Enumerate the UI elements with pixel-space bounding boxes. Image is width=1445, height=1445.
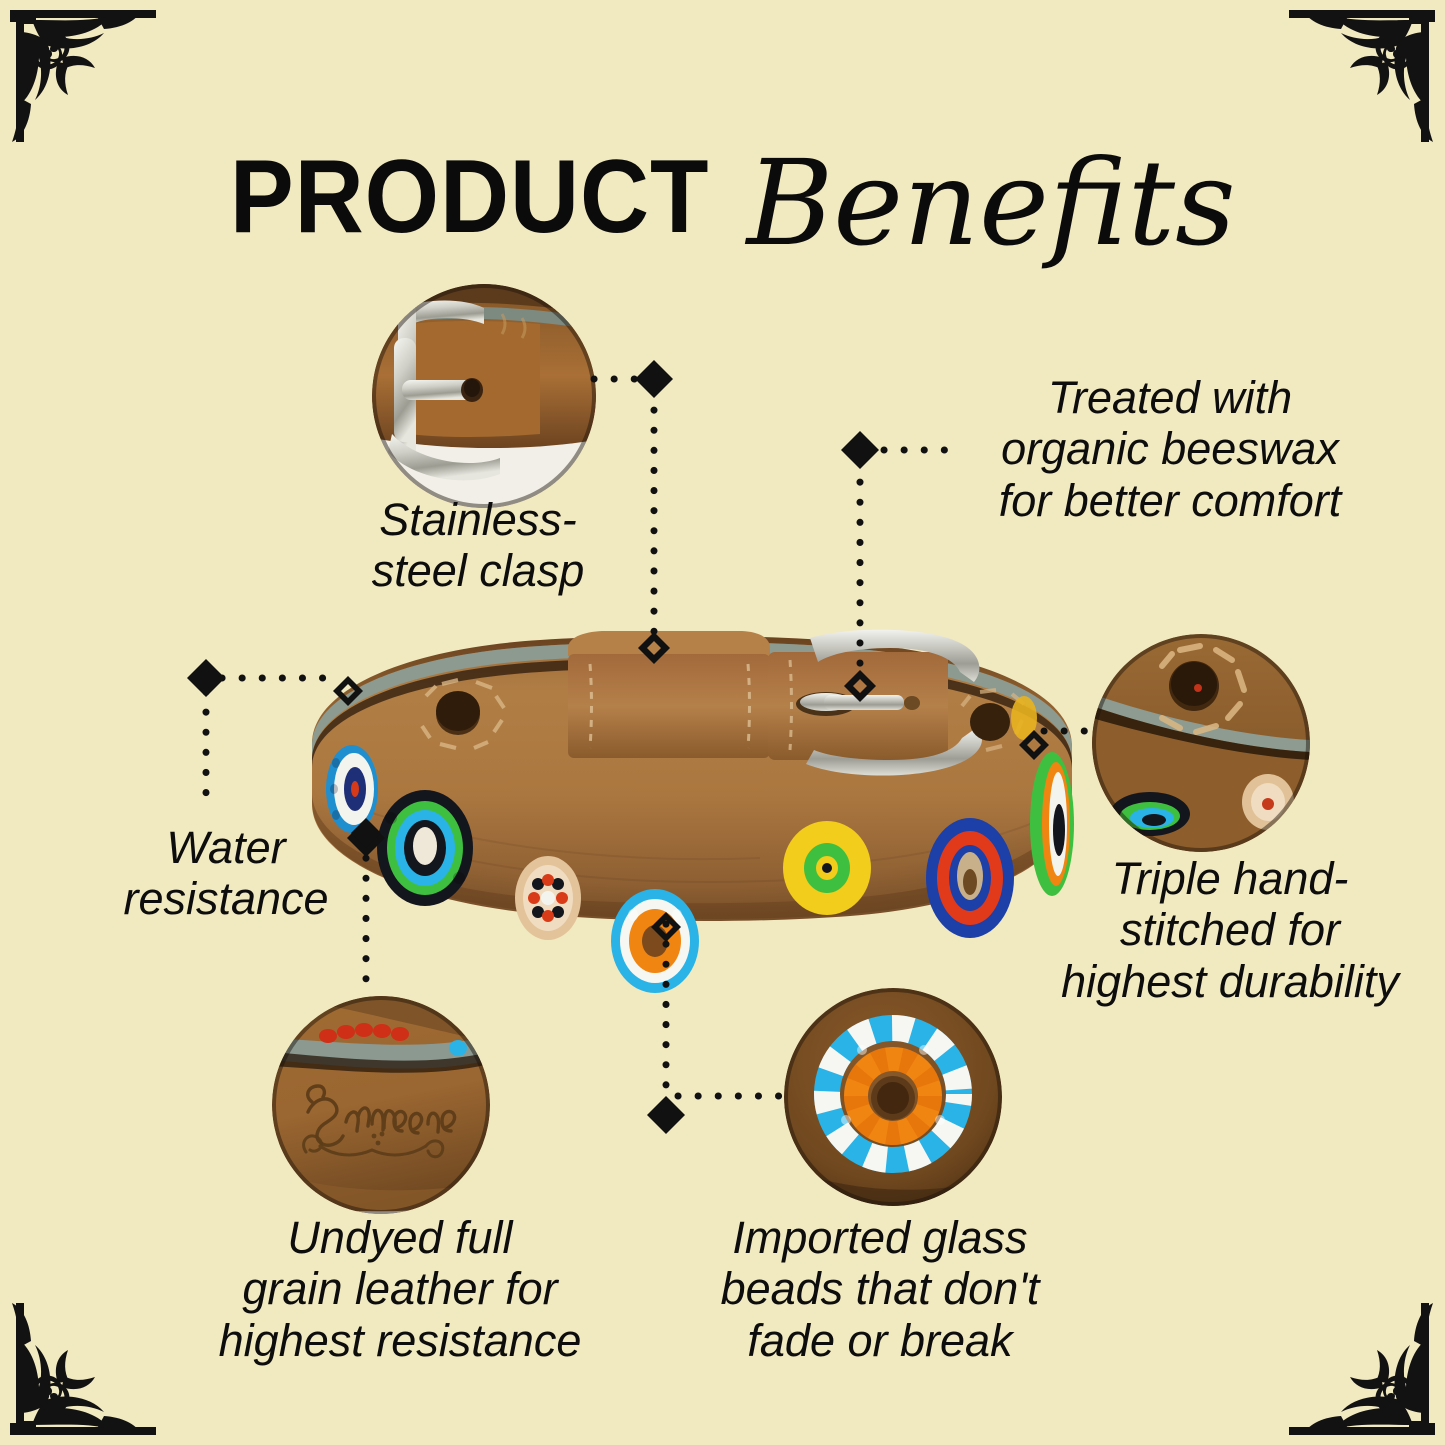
bead-medallion-blue-white — [326, 745, 378, 833]
marker-beads-elbow — [647, 1096, 685, 1134]
bead-medallion-navy-red — [926, 818, 1014, 938]
benefit-label-undyed-full-grain-leather: Undyed full grain leather for highest re… — [210, 1212, 590, 1366]
inset-stitching-closeup — [1092, 634, 1310, 852]
page-title-bold: PRODUCT — [230, 145, 710, 249]
page-title: PRODUCT Benefits — [0, 112, 1445, 282]
buckle-prong — [824, 695, 904, 710]
page-title-script: Benefits — [747, 144, 1236, 262]
benefit-label-triple-hand-stitched: Triple hand- stitched for highest durabi… — [1050, 853, 1410, 1007]
benefit-label-water-resistance: Water resistance — [86, 822, 366, 925]
bead-medallion-pearl-red — [515, 856, 581, 940]
bead-medallion-black-green — [377, 790, 473, 906]
inset-brand-logo-closeup — [272, 996, 490, 1214]
marker-clasp — [635, 360, 673, 398]
benefit-label-organic-beeswax: Treated with organic beeswax for better … — [960, 372, 1380, 526]
inset-beads-closeup — [784, 988, 1002, 1206]
corner-ornament-bottom-right — [1283, 1283, 1443, 1443]
benefit-label-stainless-steel-clasp: Stainless- steel clasp — [318, 494, 638, 597]
prong-tip-shadow — [904, 696, 920, 710]
corner-ornament-bottom-left — [2, 1283, 162, 1443]
benefit-label-imported-glass-beads: Imported glass beads that don't fade or … — [700, 1212, 1060, 1366]
inset-buckle-closeup — [372, 284, 596, 508]
marker-beeswax — [841, 431, 879, 469]
bead-medallion-yellow-green — [783, 821, 871, 915]
bead-medallion-cyan-orange — [611, 889, 699, 993]
buckle-keeper — [568, 654, 770, 758]
marker-water — [187, 659, 225, 697]
product-hero-image — [290, 596, 1090, 996]
